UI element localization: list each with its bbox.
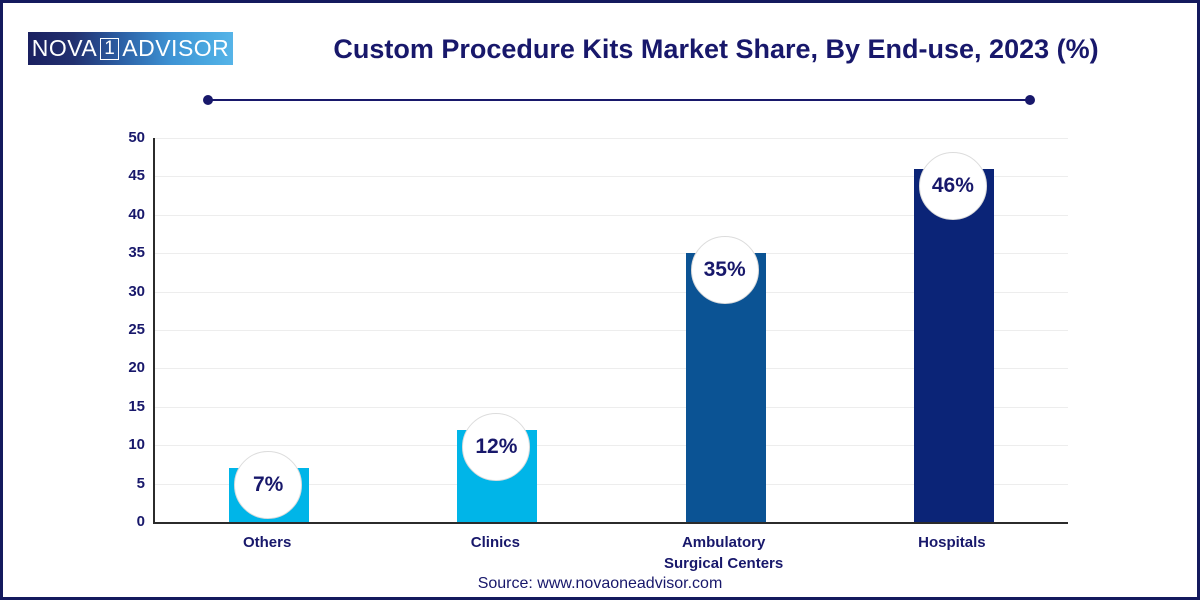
chart-page: NOVA1ADVISOR Custom Procedure Kits Marke…	[0, 0, 1200, 600]
y-axis-tick-label: 10	[111, 437, 145, 452]
data-label-bubble: 46%	[919, 152, 987, 220]
y-axis-tick-label: 45	[111, 168, 145, 183]
x-axis-label-line: Surgical Centers	[610, 553, 838, 574]
x-axis-category-label: AmbulatorySurgical Centers	[610, 532, 838, 574]
x-axis-label-line: Others	[153, 532, 381, 553]
y-axis-tick-label: 5	[111, 476, 145, 491]
data-label-bubble: 7%	[234, 451, 302, 519]
x-axis-category-label: Hospitals	[838, 532, 1066, 553]
y-axis-tick-label: 25	[111, 322, 145, 337]
x-axis-label-line: Clinics	[381, 532, 609, 553]
chart-canvas: 05101520253035404550 7%Others12%Clinics3…	[3, 3, 1200, 600]
y-axis-tick-labels: 05101520253035404550	[111, 138, 145, 522]
x-axis-category-label: Clinics	[381, 532, 609, 553]
x-axis-label-line: Ambulatory	[610, 532, 838, 553]
y-axis-tick-label: 30	[111, 284, 145, 299]
source-caption: Source: www.novaoneadvisor.com	[3, 575, 1197, 593]
y-axis-tick-label: 35	[111, 245, 145, 260]
data-label-bubble: 12%	[462, 413, 530, 481]
y-axis-tick-label: 0	[111, 514, 145, 529]
data-label-bubble: 35%	[691, 236, 759, 304]
x-axis-category-label: Others	[153, 532, 381, 553]
x-axis-label-line: Hospitals	[838, 532, 1066, 553]
y-axis-tick-label: 50	[111, 130, 145, 145]
y-axis-tick-label: 15	[111, 399, 145, 414]
y-axis-tick-label: 40	[111, 207, 145, 222]
y-axis-tick-label: 20	[111, 360, 145, 375]
gridline	[155, 138, 1068, 139]
bar-hospitals[interactable]	[914, 169, 994, 522]
